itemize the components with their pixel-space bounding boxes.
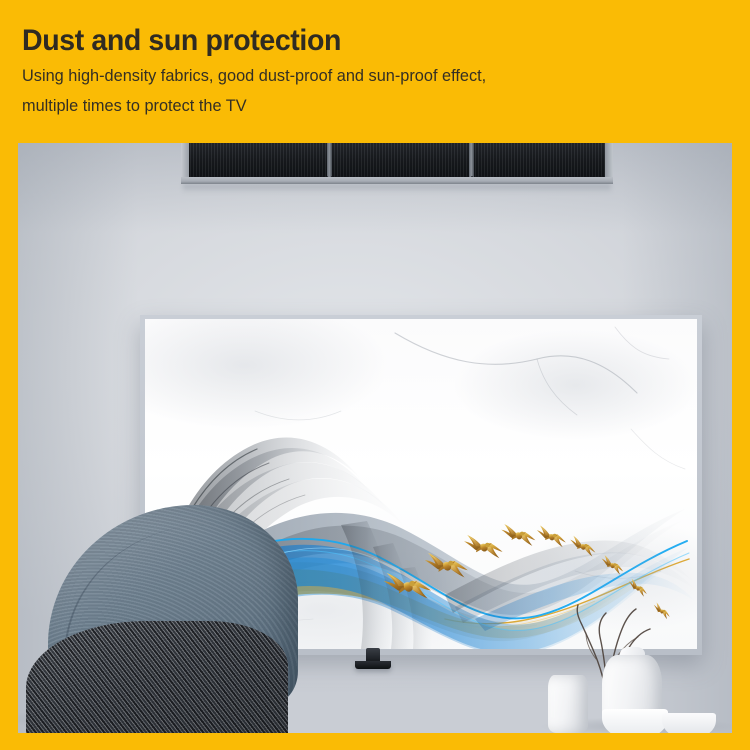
golden-bird [462, 529, 503, 565]
tv-stand [355, 648, 391, 672]
poster-header: Dust and sun protection Using high-densi… [0, 0, 750, 143]
bowl-right [662, 713, 716, 733]
wall-cabinet [181, 143, 613, 189]
cabinet-panel-divider [327, 143, 332, 179]
sideboard-decor [510, 613, 732, 733]
cabinet-base [181, 177, 613, 184]
golden-bird [423, 545, 470, 587]
cabinet-panel-divider [469, 143, 474, 179]
vase-small [548, 675, 588, 733]
lifestyle-photo [18, 143, 732, 733]
sofa [18, 473, 308, 733]
golden-bird [500, 520, 536, 552]
knit-throw-blanket [26, 621, 288, 733]
page-title: Dust and sun protection [22, 24, 714, 58]
tv-stand-foot [355, 661, 391, 669]
subtitle-line-1: Using high-density fabrics, good dust-pr… [22, 64, 721, 88]
cabinet-shadow [183, 184, 611, 193]
golden-bird [598, 553, 625, 577]
subtitle-line-2: multiple times to protect the TV [22, 94, 721, 118]
golden-bird [536, 523, 567, 550]
bowl-front [602, 709, 668, 733]
product-feature-poster: Dust and sun protection Using high-densi… [0, 0, 750, 750]
cabinet-body [187, 143, 607, 179]
golden-bird [568, 534, 597, 560]
